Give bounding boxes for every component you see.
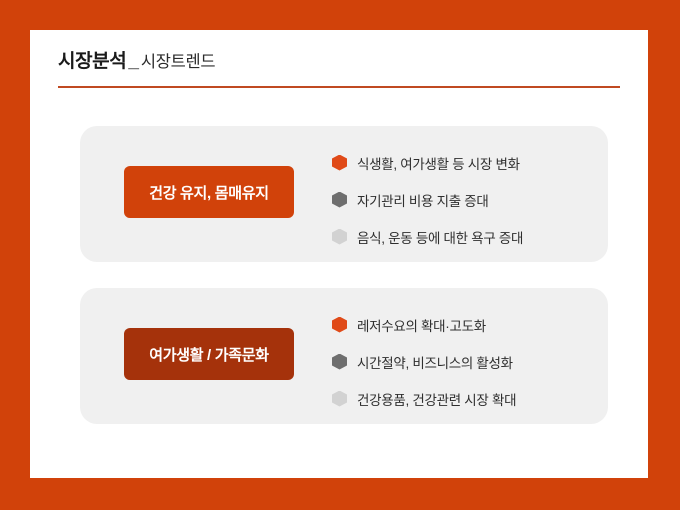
hexagon-icon: [332, 354, 347, 370]
slide-frame: 시장분석_시장트렌드 건강 유지, 몸매유지 식생활, 여가생활 등 시장 변화…: [0, 0, 680, 510]
hexagon-icon: [332, 192, 347, 208]
hexagon-icon: [332, 391, 347, 407]
category-pill-leisure[interactable]: 여가생활 / 가족문화: [124, 328, 294, 380]
hexagon-icon: [332, 317, 347, 333]
list-item-label: 레저수요의 확대·고도화: [357, 315, 486, 335]
list-item: 레저수요의 확대·고도화: [332, 306, 602, 343]
page-title: 시장분석_시장트렌드: [58, 46, 215, 73]
list-item-label: 시간절약, 비즈니스의 활성화: [357, 352, 513, 372]
page-title-main: 시장분석: [58, 51, 126, 72]
list-item-label: 자기관리 비용 지출 증대: [357, 190, 489, 210]
list-item: 시간절약, 비즈니스의 활성화: [332, 343, 602, 380]
slide-page: 시장분석_시장트렌드 건강 유지, 몸매유지 식생활, 여가생활 등 시장 변화…: [30, 30, 648, 478]
hexagon-icon: [332, 229, 347, 245]
page-title-sub: 시장트렌드: [141, 53, 215, 71]
bullet-list-leisure: 레저수요의 확대·고도화 시간절약, 비즈니스의 활성화 건강용품, 건강관련 …: [332, 306, 602, 417]
slide-header: 시장분석_시장트렌드: [58, 42, 620, 90]
list-item-label: 식생활, 여가생활 등 시장 변화: [357, 153, 520, 173]
content-card-health: 건강 유지, 몸매유지 식생활, 여가생활 등 시장 변화 자기관리 비용 지출…: [80, 126, 608, 262]
category-pill-health[interactable]: 건강 유지, 몸매유지: [124, 166, 294, 218]
bullet-list-health: 식생활, 여가생활 등 시장 변화 자기관리 비용 지출 증대 음식, 운동 등…: [332, 144, 602, 255]
content-card-leisure: 여가생활 / 가족문화 레저수요의 확대·고도화 시간절약, 비즈니스의 활성화…: [80, 288, 608, 424]
page-title-separator: _: [126, 51, 141, 72]
list-item-label: 음식, 운동 등에 대한 욕구 증대: [357, 227, 523, 247]
list-item-label: 건강용품, 건강관련 시장 확대: [357, 389, 516, 409]
list-item: 건강용품, 건강관련 시장 확대: [332, 380, 602, 417]
list-item: 자기관리 비용 지출 증대: [332, 181, 602, 218]
list-item: 식생활, 여가생활 등 시장 변화: [332, 144, 602, 181]
hexagon-icon: [332, 155, 347, 171]
header-divider: [58, 86, 620, 88]
list-item: 음식, 운동 등에 대한 욕구 증대: [332, 218, 602, 255]
